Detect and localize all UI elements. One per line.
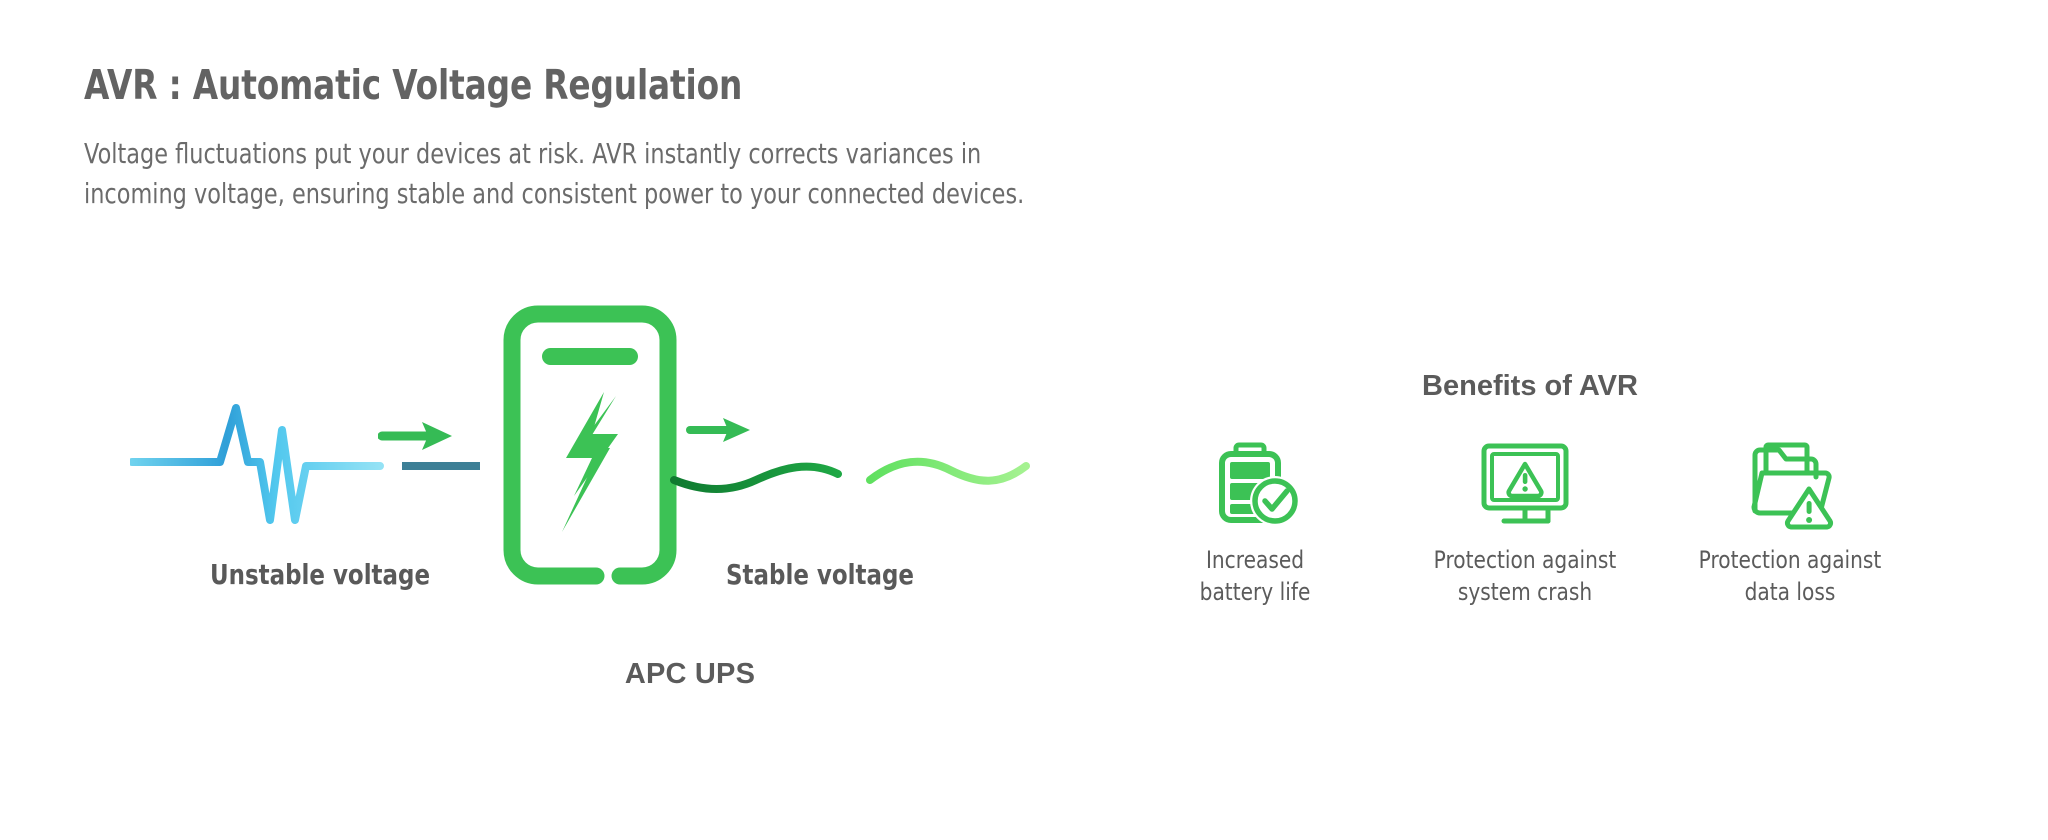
benefit-item-battery: Increased battery life <box>1125 430 1385 608</box>
battery-check-icon <box>1125 430 1385 535</box>
stable-voltage-waveform <box>670 430 1050 520</box>
monitor-warning-icon <box>1395 430 1655 535</box>
unstable-voltage-label: Unstable voltage <box>201 558 439 591</box>
avr-diagram: Unstable voltage Stable voltage APC UPS … <box>0 0 2048 840</box>
ups-device <box>500 300 680 595</box>
folder-warning-icon <box>1660 430 1920 535</box>
stable-voltage-graphic <box>670 430 1050 525</box>
voltage-flow-group: Unstable voltage Stable voltage APC UPS <box>150 370 1030 690</box>
ups-label: APC UPS <box>570 658 810 691</box>
unstable-voltage-graphic <box>130 370 550 555</box>
benefit-item-data-loss: Protection against data loss <box>1660 430 1920 608</box>
stable-voltage-label: Stable voltage <box>701 558 939 591</box>
unstable-voltage-waveform <box>130 370 550 550</box>
benefits-group: Benefits of AVR Inc <box>1130 370 1930 670</box>
benefits-title: Benefits of AVR <box>1130 370 1930 403</box>
benefit-label: Protection against data loss <box>1681 545 1899 608</box>
benefit-item-system-crash: Protection against system crash <box>1395 430 1655 608</box>
benefit-label: Increased battery life <box>1146 545 1364 608</box>
benefit-label: Protection against system crash <box>1416 545 1634 608</box>
arrow-right-icon-in <box>378 416 458 461</box>
ups-lightning-icon <box>500 300 680 590</box>
